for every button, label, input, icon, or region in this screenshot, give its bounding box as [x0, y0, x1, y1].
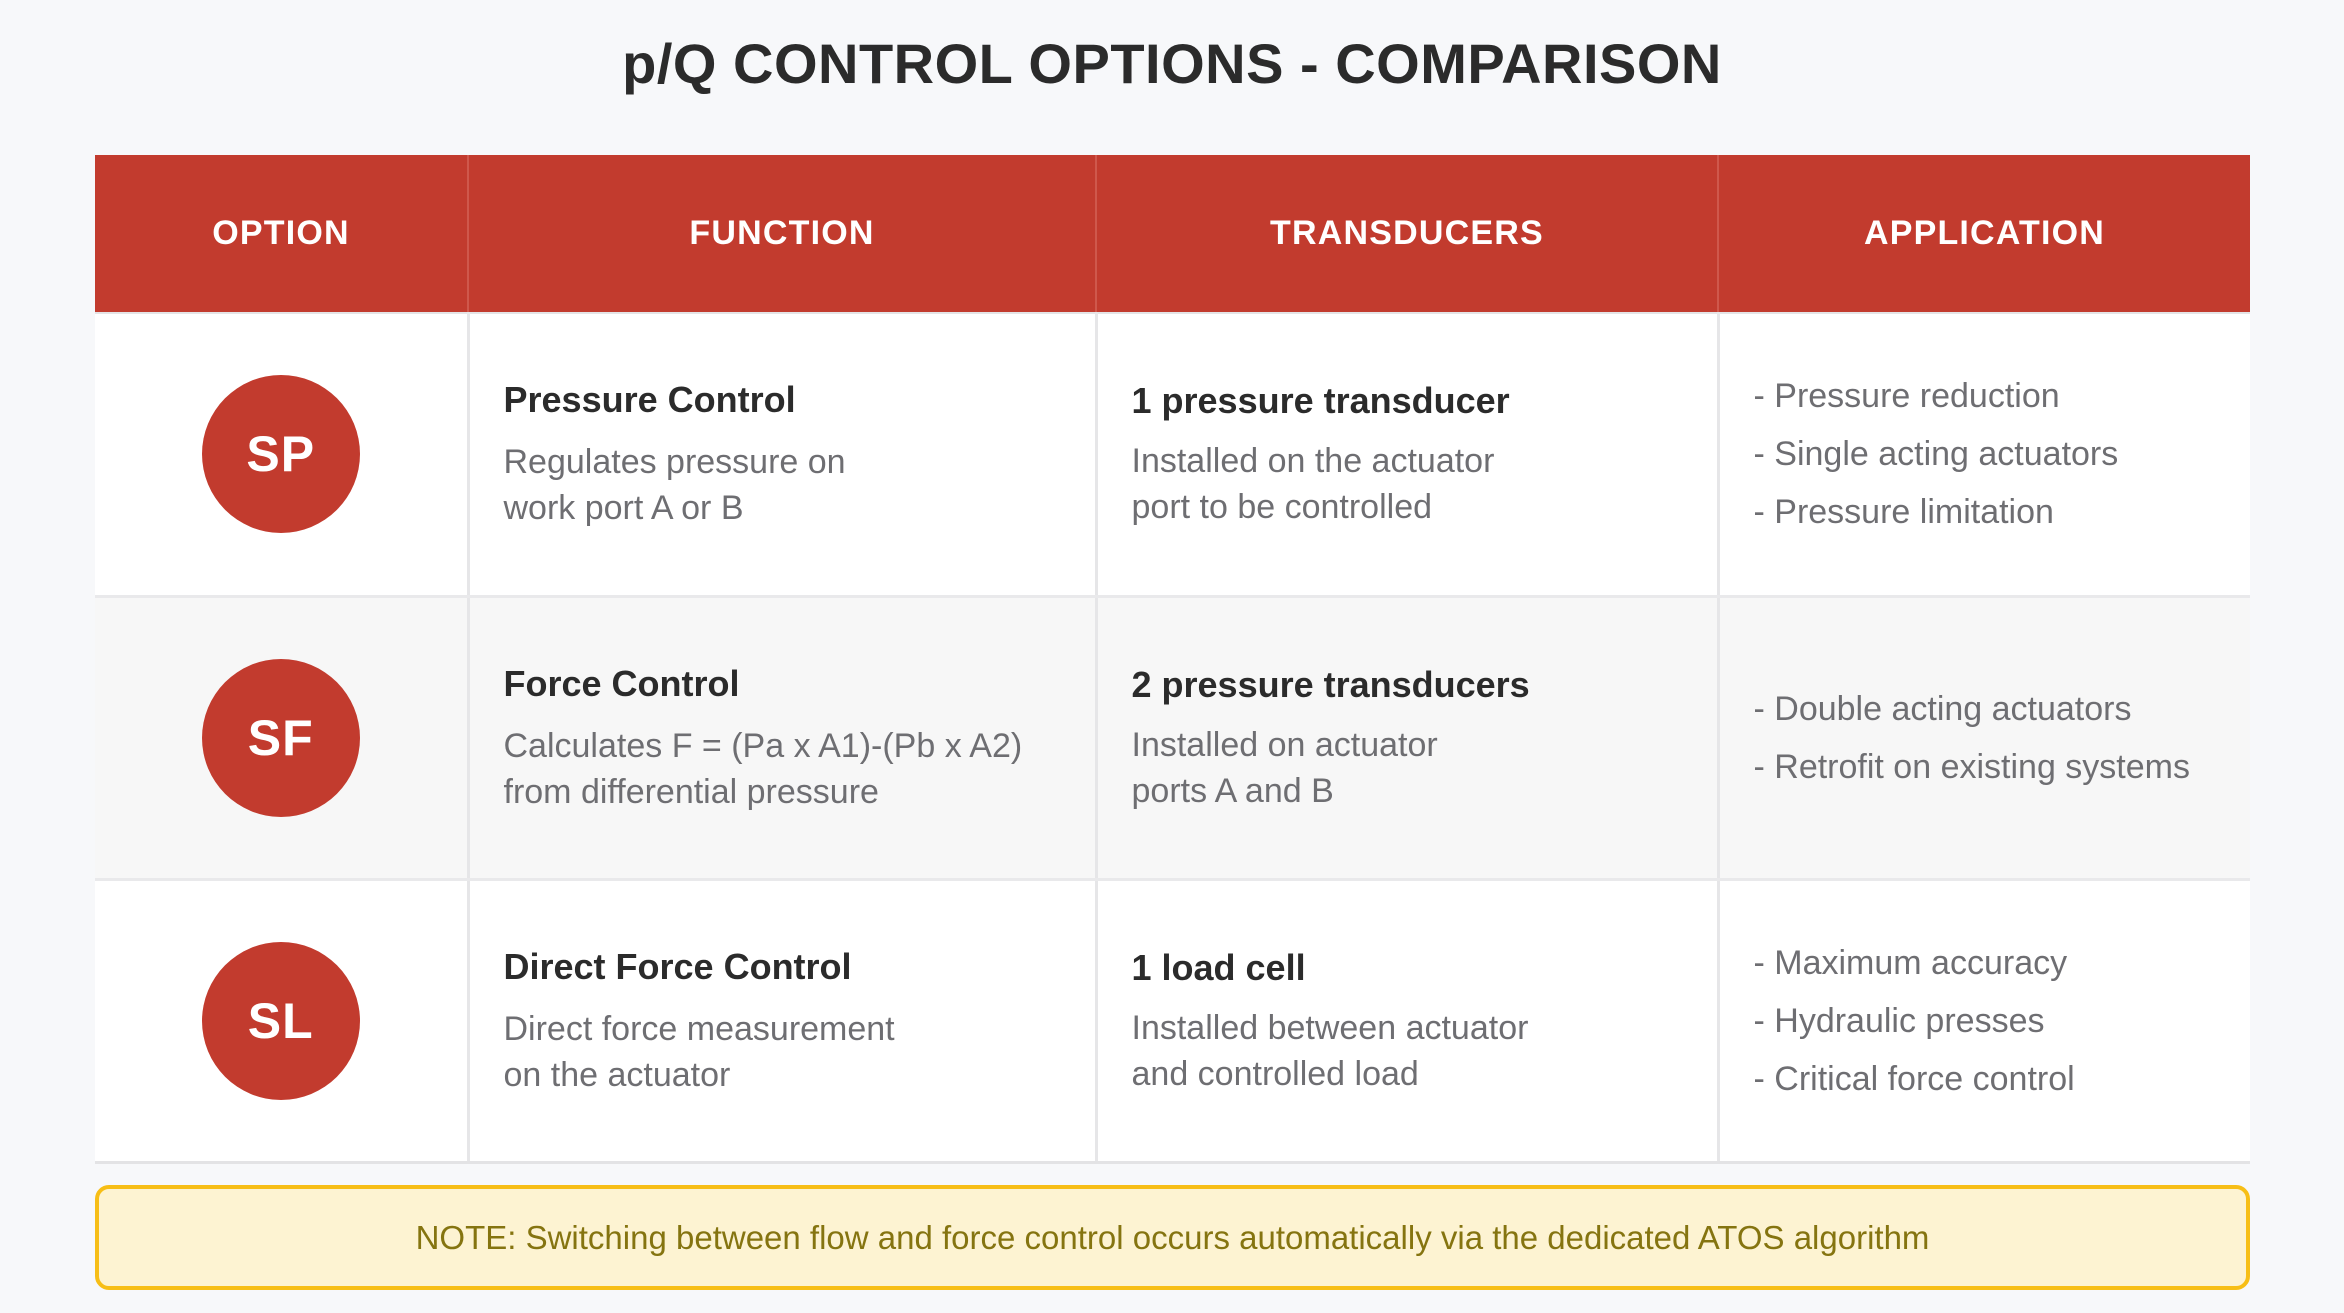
list-item: - Pressure limitation [1754, 483, 2217, 541]
function-description: Regulates pressure on work port A or B [504, 439, 1061, 531]
transducers-description: Installed on actuator ports A and B [1132, 722, 1683, 814]
transducers-cell: 1 pressure transducer Installed on the a… [1096, 313, 1718, 596]
list-item: - Pressure reduction [1754, 367, 2217, 425]
table-header: OPTION FUNCTION TRANSDUCERS APPLICATION [95, 155, 2250, 313]
application-cell: - Double acting actuators - Retrofit on … [1718, 596, 2250, 879]
transducers-cell: 1 load cell Installed between actuator a… [1096, 879, 1718, 1162]
function-cell: Force Control Calculates F = (Pa x A1)-(… [468, 596, 1096, 879]
slide-canvas: p/Q CONTROL OPTIONS - COMPARISON OPTION … [0, 0, 2344, 1313]
list-item: - Hydraulic presses [1754, 992, 2217, 1050]
transducers-title: 1 load cell [1132, 945, 1683, 991]
option-cell: SL [95, 879, 468, 1162]
list-item: - Maximum accuracy [1754, 934, 2217, 992]
column-header-transducers: TRANSDUCERS [1096, 155, 1718, 313]
list-item: - Single acting actuators [1754, 425, 2217, 483]
note-banner: NOTE: Switching between flow and force c… [95, 1185, 2250, 1290]
column-header-option: OPTION [95, 155, 468, 313]
page-title: p/Q CONTROL OPTIONS - COMPARISON [0, 28, 2344, 100]
note-text: NOTE: Switching between flow and force c… [416, 1216, 1930, 1260]
application-cell: - Pressure reduction - Single acting act… [1718, 313, 2250, 596]
comparison-table: OPTION FUNCTION TRANSDUCERS APPLICATION … [95, 155, 2250, 1164]
option-badge: SL [202, 942, 360, 1100]
function-cell: Direct Force Control Direct force measur… [468, 879, 1096, 1162]
table-row: SF Force Control Calculates F = (Pa x A1… [95, 596, 2250, 879]
application-cell: - Maximum accuracy - Hydraulic presses -… [1718, 879, 2250, 1162]
transducers-description: Installed on the actuator port to be con… [1132, 438, 1683, 530]
option-badge: SF [202, 659, 360, 817]
column-header-application: APPLICATION [1718, 155, 2250, 313]
application-list: - Double acting actuators - Retrofit on … [1754, 680, 2217, 796]
table-row: SL Direct Force Control Direct force mea… [95, 879, 2250, 1162]
option-cell: SP [95, 313, 468, 596]
transducers-description: Installed between actuator and controlle… [1132, 1005, 1683, 1097]
table-row: SP Pressure Control Regulates pressure o… [95, 313, 2250, 596]
table-header-row: OPTION FUNCTION TRANSDUCERS APPLICATION [95, 155, 2250, 313]
transducers-title: 1 pressure transducer [1132, 378, 1683, 424]
function-title: Force Control [504, 661, 1061, 707]
application-list: - Pressure reduction - Single acting act… [1754, 367, 2217, 541]
transducers-cell: 2 pressure transducers Installed on actu… [1096, 596, 1718, 879]
application-list: - Maximum accuracy - Hydraulic presses -… [1754, 934, 2217, 1108]
list-item: - Retrofit on existing systems [1754, 738, 2217, 796]
function-cell: Pressure Control Regulates pressure on w… [468, 313, 1096, 596]
table-body: SP Pressure Control Regulates pressure o… [95, 313, 2250, 1162]
transducers-title: 2 pressure transducers [1132, 662, 1683, 708]
list-item: - Double acting actuators [1754, 680, 2217, 738]
column-header-function: FUNCTION [468, 155, 1096, 313]
function-title: Direct Force Control [504, 944, 1061, 990]
function-description: Direct force measurement on the actuator [504, 1006, 1061, 1098]
list-item: - Critical force control [1754, 1050, 2217, 1108]
function-description: Calculates F = (Pa x A1)-(Pb x A2) from … [504, 723, 1061, 815]
function-title: Pressure Control [504, 377, 1061, 423]
option-cell: SF [95, 596, 468, 879]
option-badge: SP [202, 375, 360, 533]
